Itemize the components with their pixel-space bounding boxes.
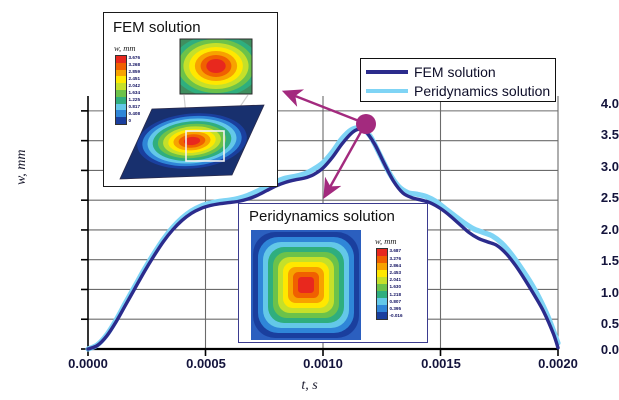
- colorbar-tick-label: 0.408: [129, 111, 141, 118]
- peridynamics-solution-inset: Peridynamics solution w, mm 3.6873.2762.…: [238, 203, 428, 343]
- x-axis-label: t, s: [0, 378, 619, 394]
- y-tick-label: 0.5: [573, 316, 619, 331]
- fem-solution-inset: FEM solution w, mm 3.6763.2682.8592.4512…: [103, 12, 278, 187]
- y-tick-label: 0.0: [573, 342, 619, 357]
- x-tick-label: 0.0020: [513, 356, 603, 371]
- colorbar-tick-label: 2.453: [390, 270, 403, 277]
- legend-item-peridynamics: Peridynamics solution: [361, 81, 555, 100]
- colorbar-tick-label: 0.807: [390, 298, 403, 305]
- legend-box: FEM solution Peridynamics solution: [360, 58, 556, 102]
- colorbar-tick-label: 2.864: [390, 262, 403, 269]
- x-tick-label: 0.0010: [278, 356, 368, 371]
- colorbar-tick-label: 1.634: [129, 90, 141, 97]
- y-tick-label: 2.5: [573, 190, 619, 205]
- fem-colorbar: 3.6763.2682.8592.4512.0421.6341.2250.817…: [115, 55, 140, 125]
- colorbar-tick-label: 2.042: [129, 83, 141, 90]
- colorbar-tick-label: 3.268: [129, 62, 141, 69]
- y-tick-label: 4.0: [573, 96, 619, 111]
- peridynamics-colorbar-strip: [376, 248, 388, 320]
- colorbar-tick-label: 2.041: [390, 277, 403, 284]
- colorbar-tick-label: 1.225: [129, 97, 141, 104]
- y-tick-label: 3.0: [573, 159, 619, 174]
- peridynamics-inset-title: Peridynamics solution: [249, 208, 395, 225]
- legend-swatch-peridynamics: [366, 89, 408, 93]
- colorbar-tick-label: 3.276: [390, 255, 403, 262]
- peridynamics-colorbar: 3.6873.2762.8642.4532.0411.6301.2180.807…: [376, 248, 403, 320]
- colorbar-tick-label: 0: [129, 118, 141, 125]
- y-tick-label: 1.0: [573, 285, 619, 300]
- legend-label-fem: FEM solution: [414, 64, 496, 80]
- colorbar-tick-label: 0.817: [129, 104, 141, 111]
- legend-swatch-fem: [366, 70, 408, 74]
- y-axis-label: w, mm: [14, 149, 30, 185]
- colorbar-tick-label: 1.218: [390, 291, 403, 298]
- legend-item-fem: FEM solution: [361, 62, 555, 81]
- fem-colorbar-labels: 3.6763.2682.8592.4512.0421.6341.2250.817…: [129, 55, 141, 125]
- colorbar-tick-label: -0.016: [390, 313, 403, 320]
- fem-colorbar-strip: [115, 55, 127, 125]
- x-tick-label: 0.0005: [161, 356, 251, 371]
- fem-colorbar-caption: w, mm: [114, 43, 136, 53]
- colorbar-tick-label: 2.451: [129, 76, 141, 83]
- y-tick-label: 2.0: [573, 222, 619, 237]
- colorbar-tick-label: 3.676: [129, 55, 141, 62]
- legend-label-peridynamics: Peridynamics solution: [414, 83, 550, 99]
- colorbar-tick-label: 1.630: [390, 284, 403, 291]
- x-tick-label: 0.0000: [43, 356, 133, 371]
- fem-inset-title: FEM solution: [113, 19, 201, 36]
- peridynamics-colorbar-caption: w, mm: [375, 236, 397, 246]
- colorbar-tick-label: 0.395: [390, 306, 403, 313]
- peridynamics-colorbar-labels: 3.6873.2762.8642.4532.0411.6301.2180.807…: [390, 248, 403, 320]
- y-tick-label: 3.5: [573, 127, 619, 142]
- figure-root: 4.0 3.5 3.0 2.5 2.0 1.5 1.0 0.5 0.0 0.00…: [0, 0, 619, 400]
- x-tick-label: 0.0015: [396, 356, 486, 371]
- y-tick-label: 1.5: [573, 253, 619, 268]
- colorbar-tick-label: 2.859: [129, 69, 141, 76]
- colorbar-tick-label: 3.687: [390, 248, 403, 255]
